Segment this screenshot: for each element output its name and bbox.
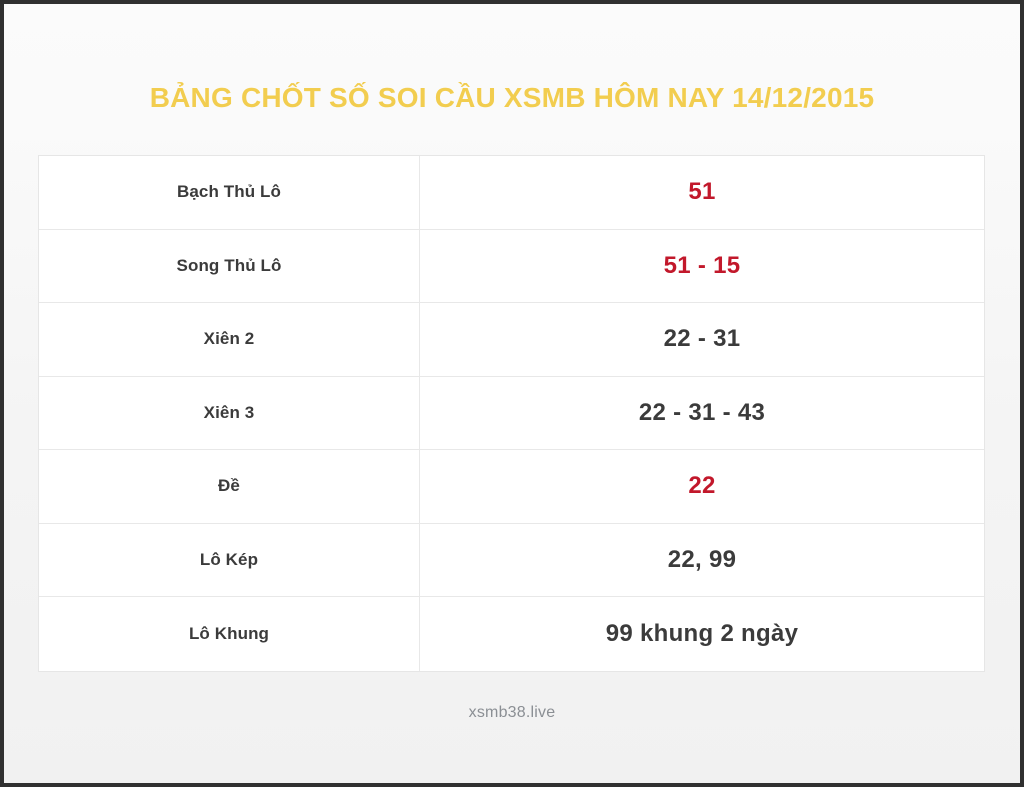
table-row: Bạch Thủ Lô 51	[39, 156, 984, 230]
row-value: 99 khung 2 ngày	[420, 597, 984, 671]
table-row: Đề 22	[39, 450, 984, 524]
row-value: 22, 99	[420, 524, 984, 597]
table-row: Xiên 2 22 - 31	[39, 303, 984, 377]
row-label: Bạch Thủ Lô	[39, 156, 420, 229]
row-label: Đề	[39, 450, 420, 523]
row-label: Lô Kép	[39, 524, 420, 597]
site-watermark: xsmb38.live	[4, 704, 1020, 722]
row-value: 22 - 31 - 43	[420, 377, 984, 450]
table-row: Lô Kép 22, 99	[39, 524, 984, 598]
row-label: Lô Khung	[39, 597, 420, 671]
prediction-table: Bạch Thủ Lô 51 Song Thủ Lô 51 - 15 Xiên …	[38, 155, 985, 672]
row-label: Song Thủ Lô	[39, 230, 420, 303]
row-label: Xiên 2	[39, 303, 420, 376]
row-value: 51	[420, 156, 984, 229]
row-label: Xiên 3	[39, 377, 420, 450]
page-title: BẢNG CHỐT SỐ SOI CẦU XSMB HÔM NAY 14/12/…	[4, 82, 1020, 114]
row-value: 22 - 31	[420, 303, 984, 376]
table-row: Xiên 3 22 - 31 - 43	[39, 377, 984, 451]
row-value: 51 - 15	[420, 230, 984, 303]
table-row: Lô Khung 99 khung 2 ngày	[39, 597, 984, 671]
row-value: 22	[420, 450, 984, 523]
table-row: Song Thủ Lô 51 - 15	[39, 230, 984, 304]
lottery-prediction-card: BẢNG CHỐT SỐ SOI CẦU XSMB HÔM NAY 14/12/…	[0, 0, 1024, 787]
